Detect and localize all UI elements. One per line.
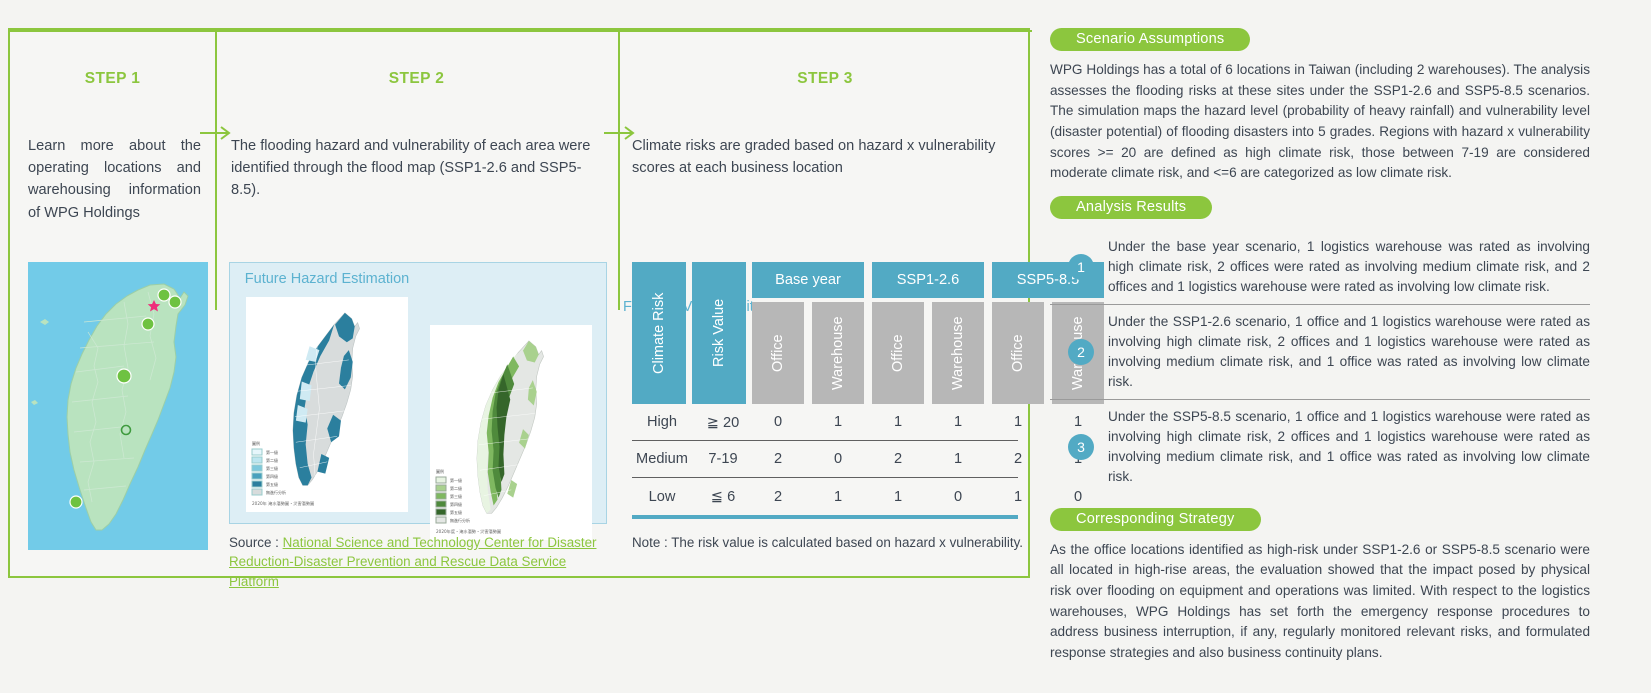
cell-ssp1-warehouse: 1 — [931, 414, 985, 430]
table-note: Note : The risk value is calculated base… — [632, 535, 1024, 550]
svg-text:第四級: 第四級 — [450, 501, 462, 507]
step-1: STEP 1 Learn more about the operating lo… — [10, 30, 215, 576]
hazard-map-column: Future Hazard Estimation — [238, 263, 416, 523]
header-base-warehouse: Warehouse — [812, 302, 864, 404]
table-row: High ≧ 20 0 1 1 1 1 1 — [632, 404, 1018, 441]
svg-text:第一級: 第一級 — [266, 449, 278, 455]
svg-text:第三級: 第三級 — [450, 493, 462, 499]
source-link[interactable]: National Science and Technology Center f… — [229, 535, 596, 589]
cell-ssp5-office: 1 — [991, 489, 1045, 505]
cell-ssp1-office: 1 — [871, 414, 925, 430]
step-2: STEP 2 The flooding hazard and vulnerabi… — [215, 30, 618, 576]
svg-text:無進行分析: 無進行分析 — [450, 517, 470, 523]
list-item: 1 Under the base year scenario, 1 logist… — [1050, 230, 1590, 305]
table-bottom-rule — [632, 515, 1018, 519]
header-ssp1-office: Office — [872, 302, 924, 404]
svg-text:2020年 淹水潛勢圖・災害潛勢圖: 2020年 淹水潛勢圖・災害潛勢圖 — [252, 500, 314, 507]
cell-risk-label: High — [632, 414, 692, 430]
table-row: Medium 7-19 2 0 2 1 2 1 — [632, 441, 1018, 478]
taiwan-locations-map — [28, 262, 208, 550]
scenario-assumptions-body: WPG Holdings has a total of 6 locations … — [1050, 60, 1590, 184]
list-item: 3 Under the SSP5-8.5 scenario, 1 office … — [1050, 400, 1590, 494]
cell-ssp5-office: 1 — [991, 414, 1045, 430]
header-scenario-base-year: Base year — [752, 262, 864, 298]
step-3: STEP 3 Climate risks are graded based on… — [618, 30, 1032, 576]
table-header: Climate Risk Risk Value Base year SSP1-2… — [632, 262, 1018, 404]
corresponding-strategy-body: As the office locations identified as hi… — [1050, 540, 1590, 664]
svg-text:圖例: 圖例 — [252, 440, 260, 446]
svg-text:第二級: 第二級 — [450, 485, 462, 491]
cell-ssp1-office: 1 — [871, 489, 925, 505]
cell-ssp5-office: 2 — [991, 451, 1045, 467]
analysis-results-pill: Analysis Results — [1050, 196, 1212, 219]
result-text: Under the SSP5-8.5 scenario, 1 office an… — [1108, 407, 1590, 487]
analysis-results-list: 1 Under the base year scenario, 1 logist… — [1050, 230, 1590, 494]
climate-risk-infographic: STEP 1 Learn more about the operating lo… — [0, 0, 1651, 693]
source-label: Source : — [229, 535, 279, 550]
cell-base-warehouse: 1 — [811, 489, 865, 505]
corresponding-strategy-pill: Corresponding Strategy — [1050, 508, 1261, 531]
cell-risk-value: ≦ 6 — [692, 488, 754, 505]
list-item: 2 Under the SSP1-2.6 scenario, 1 office … — [1050, 305, 1590, 400]
svg-text:圖例: 圖例 — [436, 468, 444, 474]
svg-text:無進行分析: 無進行分析 — [266, 489, 286, 495]
top-bar-step2 — [215, 30, 618, 32]
cell-base-warehouse: 0 — [811, 451, 865, 467]
cell-base-office: 0 — [751, 414, 805, 430]
cell-risk-label: Low — [632, 489, 692, 505]
cell-base-warehouse: 1 — [811, 414, 865, 430]
header-climate-risk: Climate Risk — [632, 262, 686, 404]
vulnerability-map-image: 圖例 第一級 第二級 第三級 第四級 第五級 無進行分析 2020年度・淹水潛勢… — [430, 325, 592, 540]
cell-ssp1-warehouse: 0 — [931, 489, 985, 505]
step-3-body: Climate risks are graded based on hazard… — [632, 135, 1014, 179]
cell-risk-value: ≧ 20 — [692, 414, 754, 431]
step-1-body: Learn more about the operating locations… — [28, 135, 201, 224]
header-risk-value: Risk Value — [692, 262, 746, 404]
cell-base-office: 2 — [751, 489, 805, 505]
scenario-assumptions-pill: Scenario Assumptions — [1050, 28, 1250, 51]
svg-text:第五級: 第五級 — [266, 481, 278, 487]
climate-risk-table: Climate Risk Risk Value Base year SSP1-2… — [632, 262, 1018, 519]
flood-maps-panel: Future Hazard Estimation — [229, 262, 607, 524]
top-bar-step3 — [618, 30, 1032, 32]
cell-risk-value: 7-19 — [692, 451, 754, 467]
step-2-body: The flooding hazard and vulnerability of… — [231, 135, 600, 202]
hazard-map-image: 圖例 第一級 第二級 第三級 第四級 第五級 無進行分析 2020年 淹水潛勢圖… — [246, 297, 408, 512]
result-number-badge: 3 — [1068, 434, 1094, 460]
svg-text:第一級: 第一級 — [450, 477, 462, 483]
svg-text:第二級: 第二級 — [266, 457, 278, 463]
result-number-badge: 2 — [1068, 339, 1094, 365]
cell-ssp1-office: 2 — [871, 451, 925, 467]
right-panel: Scenario Assumptions WPG Holdings has a … — [1050, 28, 1590, 664]
cell-risk-label: Medium — [632, 451, 692, 467]
header-ssp1-warehouse: Warehouse — [932, 302, 984, 404]
step-2-title: STEP 2 — [215, 70, 618, 88]
table-body: High ≧ 20 0 1 1 1 1 1 Medium 7-19 2 0 — [632, 404, 1018, 519]
result-text: Under the SSP1-2.6 scenario, 1 office an… — [1108, 312, 1590, 392]
step-1-title: STEP 1 — [10, 70, 215, 88]
svg-text:第四級: 第四級 — [266, 473, 278, 479]
top-bar-step1 — [10, 30, 215, 32]
source-citation: Source : National Science and Technology… — [229, 533, 606, 591]
result-text: Under the base year scenario, 1 logistic… — [1108, 237, 1590, 297]
svg-text:第五級: 第五級 — [450, 509, 462, 515]
svg-text:第三級: 第三級 — [266, 465, 278, 471]
cell-ssp1-warehouse: 1 — [931, 451, 985, 467]
step-flow-container: STEP 1 Learn more about the operating lo… — [8, 28, 1030, 578]
header-ssp5-office: Office — [992, 302, 1044, 404]
header-base-office: Office — [752, 302, 804, 404]
hazard-map-title: Future Hazard Estimation — [238, 271, 416, 287]
header-scenario-ssp1: SSP1-2.6 — [872, 262, 984, 298]
step-3-title: STEP 3 — [618, 70, 1032, 88]
result-number-badge: 1 — [1068, 254, 1094, 280]
cell-base-office: 2 — [751, 451, 805, 467]
table-row: Low ≦ 6 2 1 1 0 1 0 — [632, 478, 1018, 515]
